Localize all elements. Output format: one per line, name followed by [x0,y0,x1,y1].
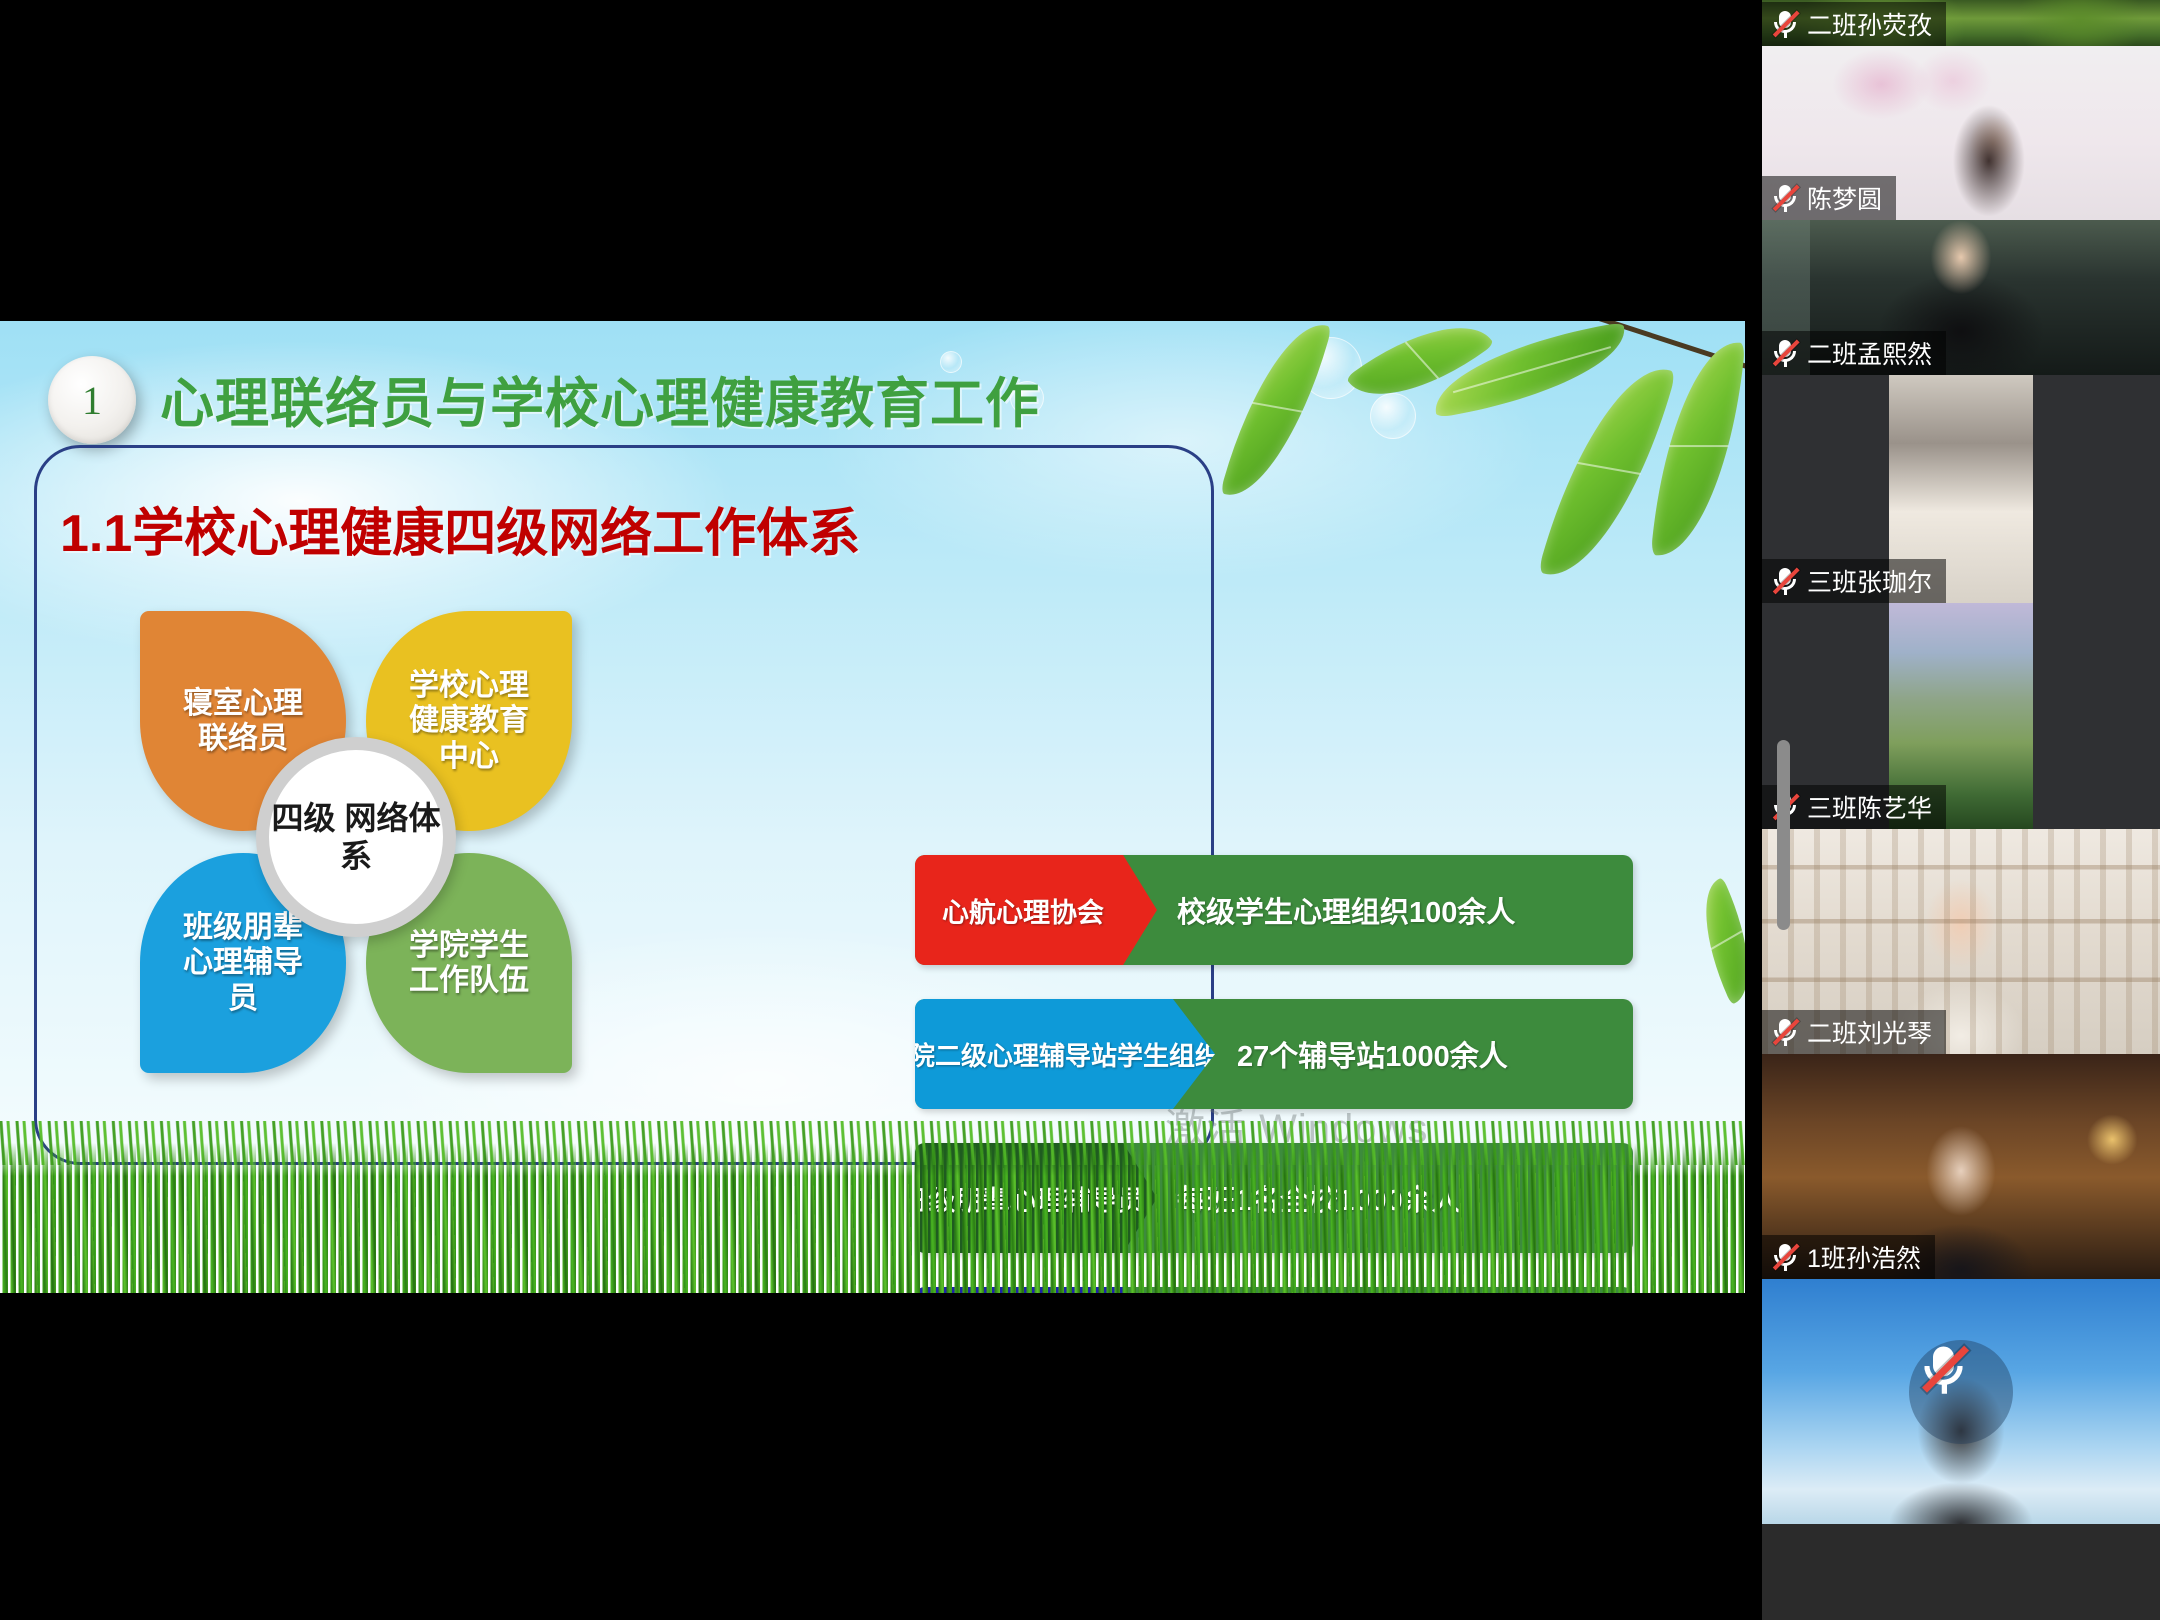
mic-muted-icon [1772,1242,1798,1272]
participant-namebar: 三班张珈尔 [1762,559,1946,603]
slide-number-badge: 1 [48,356,136,444]
level-bar-association: 心航心理协会 校级学生心理组织100余人 [915,855,1633,965]
participant-name: 二班刘光琴 [1807,1014,1932,1050]
participant-tile[interactable]: 二班孙荧孜 [1762,0,2160,46]
level-bar-label: 心航心理协会 [915,855,1157,965]
participant-tile[interactable]: 二班孟熙然 [1762,220,2160,375]
petal-label-line2: 心理辅导 [183,945,303,980]
participant-name: 二班孙荧孜 [1807,6,1932,42]
leaf-decor-6 [1682,877,1745,1005]
leaf-decor-1 [1220,321,1332,510]
mic-muted-icon [1772,566,1798,596]
participant-namebar: 二班刘光琴 [1762,1010,1946,1054]
presentation-slide: 1 心理联络员与学校心理健康教育工作 1.1学校心理健康四级网络工作体系 寝室心… [0,321,1745,1293]
participant-name: 1班孙浩然 [1807,1239,1921,1275]
meeting-screen: 1 心理联络员与学校心理健康教育工作 1.1学校心理健康四级网络工作体系 寝室心… [0,0,2160,1620]
participant-tile[interactable]: 陈梦圆 [1762,46,2160,220]
slide-number-value: 1 [82,377,102,424]
mic-muted-icon [1772,9,1798,39]
petal-label-line2: 联络员 [183,721,303,756]
section-title: 1.1学校心理健康四级网络工作体系 [60,491,860,566]
participant-tile[interactable]: 1班孙浩然 [1762,1054,2160,1279]
participant-namebar: 1班孙浩然 [1762,1235,1935,1279]
petal-label-line2: 工作队伍 [409,963,529,998]
mic-muted-icon [1921,1343,2002,1441]
participant-namebar: 二班孟熙然 [1762,331,1946,375]
participant-video-strip[interactable]: 二班孙荧孜 陈梦圆 二班孟熙然 [1762,0,2160,1620]
level-bar-detail: 27个辅导站1000余人 [1237,1033,1619,1075]
participant-name: 三班张珈尔 [1807,563,1932,599]
level-bar-label: 学院二级心理辅导站学生组织 [915,999,1215,1109]
leaf-decor-4 [1538,351,1676,594]
participant-tile[interactable]: 三班陈艺华 [1762,603,2160,829]
participant-scrollbar-track[interactable] [2146,0,2160,1620]
hub-label-line2: 网络体系 [340,800,440,874]
participant-namebar: 陈梦圆 [1762,176,1896,220]
shared-screen-stage: 1 心理联络员与学校心理健康教育工作 1.1学校心理健康四级网络工作体系 寝室心… [0,0,1762,1620]
petal-label-line1: 寝室心理 [183,686,303,721]
petal-label-line2: 健康教育 [409,703,529,738]
four-level-network-diagram: 寝室心理 联络员 学校心理 健康教育 中心 班级朋辈 心理辅导 员 [140,611,572,1073]
participant-namebar: 二班孙荧孜 [1762,2,1946,46]
participant-tile[interactable]: 二班刘光琴 [1762,829,2160,1054]
diagram-hub: 四级 网络体系 [256,737,456,937]
bubble-decor-1 [1370,393,1416,439]
mic-muted-icon [1772,183,1798,213]
level-bar-detail: 校级学生心理组织100余人 [1177,889,1619,931]
petal-label-line1: 学校心理 [409,668,529,703]
participant-tile[interactable] [1762,1279,2160,1524]
grass-strip-decor [0,1143,1745,1293]
petal-label-line3: 员 [183,981,303,1016]
slide-title: 心理联络员与学校心理健康教育工作 [160,359,1040,438]
participant-tile[interactable]: 三班张珈尔 [1762,375,2160,603]
petal-label-line1: 班级朋辈 [183,910,303,945]
participant-scrollbar-thumb[interactable] [1777,740,1790,930]
mic-muted-icon [1772,338,1798,368]
level-bar-college-station: 学院二级心理辅导站学生组织 27个辅导站1000余人 [915,999,1633,1109]
hub-label-line1: 四级 [272,800,336,836]
petal-label-line1: 学院学生 [409,928,529,963]
participant-name: 陈梦圆 [1807,180,1882,216]
participant-name: 三班陈艺华 [1807,789,1932,825]
mic-muted-icon [1772,1017,1798,1047]
participant-name: 二班孟熙然 [1807,335,1932,371]
mic-muted-overlay-icon [1909,1340,2013,1444]
